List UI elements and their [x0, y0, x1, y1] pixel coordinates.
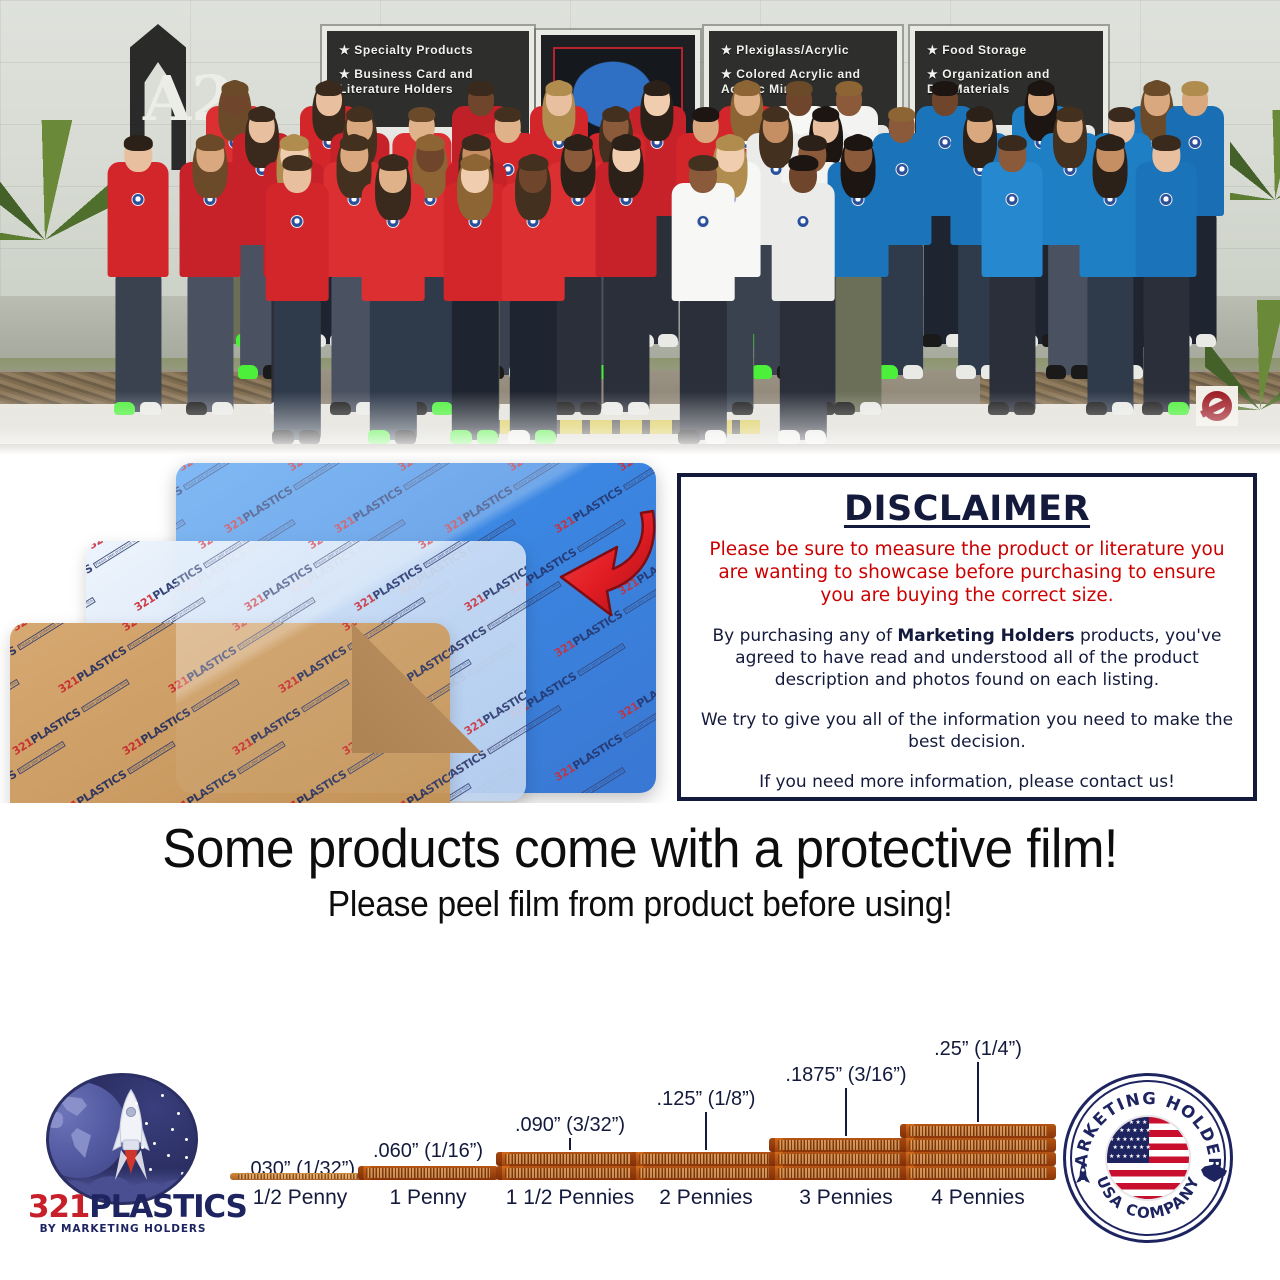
penny-measure-label: .1875” (3/16”)	[785, 1064, 906, 1087]
penny-column: .060” (1/16”)1 Penny	[358, 1010, 498, 1210]
hair-top	[966, 107, 994, 122]
shoe	[1168, 402, 1189, 416]
team-member	[266, 152, 329, 446]
flag-star-icon: ★	[1146, 1128, 1151, 1134]
penny-stack	[230, 1173, 370, 1180]
legs	[1088, 275, 1133, 412]
continent-shape	[71, 1128, 91, 1158]
flag-canton: ★★★★★★★★★★★★★★★★★★★★★★★★★★★★★★	[1107, 1117, 1149, 1163]
torso-shirt	[982, 162, 1043, 278]
shoe	[732, 402, 753, 416]
disclaimer-box: DISCLAIMER Please be sure to measure the…	[677, 473, 1257, 801]
penny-stack	[900, 1124, 1056, 1180]
shoe	[212, 402, 233, 416]
shoe	[705, 430, 727, 444]
torso-shirt	[108, 162, 169, 278]
hair-top	[248, 107, 276, 122]
team-member	[672, 152, 735, 446]
flag-star-icon: ★	[1109, 1120, 1114, 1126]
shoe	[860, 402, 881, 416]
shoe	[956, 365, 976, 378]
star-icon	[167, 1154, 170, 1157]
hair-top	[785, 81, 812, 96]
shoe	[678, 430, 700, 444]
hair-top	[1108, 107, 1136, 122]
hair-top	[762, 107, 790, 122]
star-icon	[141, 1146, 144, 1149]
hair-top	[462, 135, 490, 150]
legs	[990, 275, 1035, 412]
coin	[496, 1166, 644, 1180]
legs	[274, 299, 320, 439]
flag-star-icon: ★	[1146, 1145, 1151, 1151]
penny-stack	[630, 1152, 782, 1180]
floor-sign	[1196, 386, 1238, 426]
shoe	[140, 402, 161, 416]
protective-film-product-photo: 321PLASTICSPlease peel protective film32…	[0, 455, 672, 803]
penny-stack	[496, 1152, 644, 1180]
penny-caption: 1/2 Penny	[253, 1186, 348, 1210]
team-photo: A2 ★ Specialty Products ★ Business Card …	[0, 0, 1280, 455]
penny-leader-line	[977, 1062, 979, 1122]
penny-caption: 3 Pennies	[799, 1186, 892, 1210]
penny-measure-label: .125” (1/8”)	[657, 1088, 756, 1111]
penny-caption: 1 Penny	[389, 1186, 466, 1210]
shirt-logo-icon	[895, 163, 908, 176]
flag-star-icon: ★	[1122, 1154, 1127, 1160]
star-icon	[185, 1138, 188, 1141]
shoe	[186, 402, 207, 416]
star-icon	[153, 1142, 156, 1145]
shoe	[330, 402, 351, 416]
star-icon	[189, 1096, 192, 1099]
brand-name-marketing-holders: Marketing Holders	[897, 626, 1074, 646]
palm-frond-right-top	[1230, 110, 1280, 200]
team-member	[828, 132, 889, 418]
team-member	[444, 152, 507, 446]
shirt-logo-icon	[132, 193, 145, 206]
hair-top	[998, 135, 1026, 150]
flag-star-icon: ★	[1132, 1145, 1137, 1151]
shoe	[1112, 402, 1133, 416]
headline-secondary: Please peel film from product before usi…	[45, 882, 1235, 926]
flag-star-icon: ★	[1116, 1154, 1121, 1160]
legs	[188, 275, 233, 412]
penny-stack	[358, 1166, 498, 1180]
hair-top	[346, 107, 374, 122]
flag-star-icon: ★	[1135, 1120, 1140, 1126]
continent-shape	[47, 1112, 63, 1128]
shirt-logo-icon	[697, 215, 710, 228]
hair-top	[283, 155, 312, 171]
flag-star-icon: ★	[1113, 1128, 1118, 1134]
star-icon	[135, 1102, 138, 1105]
headline-section: Some products come with a protective fil…	[0, 818, 1280, 926]
flag-star-icon: ★	[1113, 1145, 1118, 1151]
hair-top	[692, 107, 720, 122]
shoe	[778, 430, 800, 444]
shoe	[535, 430, 557, 444]
hair-top	[844, 135, 872, 150]
team-member	[502, 152, 565, 446]
legs	[780, 299, 826, 439]
penny-column: .030” (1/32”)1/2 Penny	[230, 1010, 370, 1210]
star-icon	[185, 1156, 188, 1159]
torso-shirt	[772, 183, 835, 302]
hair-top	[564, 135, 592, 150]
window-sign-line: ★ Specialty Products	[339, 43, 519, 58]
hair-top	[789, 155, 818, 171]
penny-measure-label: .25” (1/4”)	[934, 1038, 1022, 1061]
shoe	[602, 402, 623, 416]
torso-shirt	[672, 183, 735, 302]
hair-top	[602, 107, 630, 122]
headline-primary: Some products come with a protective fil…	[45, 818, 1235, 878]
hair-top	[1096, 135, 1124, 150]
logo-321-tagline: BY MARKETING HOLDERS	[28, 1223, 218, 1235]
coin	[496, 1152, 644, 1166]
hair-top	[1181, 81, 1208, 96]
hair-top	[494, 107, 522, 122]
shoe	[1014, 402, 1035, 416]
logo-wordmark-prefix: 321	[28, 1189, 89, 1225]
penny-caption: 2 Pennies	[659, 1186, 752, 1210]
coin	[230, 1173, 370, 1180]
flag-star-icon: ★	[1126, 1145, 1131, 1151]
penny-leader-line	[569, 1138, 571, 1150]
hair-top	[716, 135, 744, 150]
hair-top	[280, 135, 308, 150]
flag-star-icon: ★	[1129, 1154, 1134, 1160]
shoe	[395, 430, 417, 444]
shoe	[1196, 334, 1216, 347]
flag-star-icon: ★	[1122, 1137, 1127, 1143]
legs	[510, 299, 556, 439]
hair-top	[196, 135, 224, 150]
flag-star-icon: ★	[1126, 1128, 1131, 1134]
legs	[370, 299, 416, 439]
flag-star-icon: ★	[1142, 1120, 1147, 1126]
shoe	[508, 430, 530, 444]
shoe	[299, 430, 321, 444]
legs	[680, 299, 726, 439]
torso-shirt	[266, 183, 329, 302]
team-member	[982, 132, 1043, 418]
shoe	[988, 402, 1009, 416]
team-member	[180, 132, 241, 418]
torso-shirt	[1136, 162, 1197, 278]
shoe	[1086, 402, 1107, 416]
hair-top	[931, 81, 958, 96]
flag-star-icon: ★	[1142, 1137, 1147, 1143]
hair-top	[1152, 135, 1180, 150]
flag-star-icon: ★	[1139, 1145, 1144, 1151]
hair-top	[221, 81, 248, 96]
palm-frond-left	[0, 120, 110, 240]
shoe	[834, 402, 855, 416]
logo-wordmark-suffix: PLASTICS	[89, 1189, 247, 1225]
flag-star-icon: ★	[1135, 1137, 1140, 1143]
shoe	[1046, 365, 1066, 378]
shirt-logo-icon	[1160, 193, 1173, 206]
flag-star-icon: ★	[1119, 1128, 1124, 1134]
flag-star-icon: ★	[1129, 1137, 1134, 1143]
penny-measure-label: .060” (1/16”)	[373, 1140, 483, 1163]
coin	[900, 1138, 1056, 1152]
penny-measure-label: .090” (3/32”)	[515, 1114, 625, 1137]
shirt-logo-icon	[1006, 193, 1019, 206]
flag-star-icon: ★	[1135, 1154, 1140, 1160]
team-member	[596, 132, 657, 418]
hair-top	[689, 155, 718, 171]
star-icon	[181, 1172, 184, 1175]
team-member	[362, 152, 425, 446]
shirt-logo-icon	[797, 215, 810, 228]
star-icon	[149, 1168, 152, 1171]
shoe	[450, 430, 472, 444]
flag-star-icon: ★	[1129, 1120, 1134, 1126]
hair-top	[461, 155, 490, 171]
disclaimer-paragraph-information: We try to give you all of the informatio…	[699, 709, 1235, 753]
hair-top	[545, 81, 572, 96]
disclaimer-paragraph-contact: If you need more information, please con…	[699, 771, 1235, 793]
agreement-text-before: By purchasing any of	[713, 626, 898, 646]
flag-star-icon: ★	[1109, 1154, 1114, 1160]
team-member	[108, 132, 169, 418]
flag-star-icon: ★	[1109, 1137, 1114, 1143]
hair-top	[643, 81, 670, 96]
hair-top	[467, 81, 494, 96]
logo-321-wordmark: 321PLASTICS	[28, 1191, 218, 1223]
legs	[1144, 275, 1189, 412]
window-sign-line: ★ Plexiglass/Acrylic	[721, 43, 887, 58]
legs	[604, 275, 649, 412]
hair-top	[124, 135, 152, 150]
usa-flag-icon: ★★★★★★★★★★★★★★★★★★★★★★★★★★★★★★	[1105, 1115, 1191, 1201]
flag-star-icon: ★	[1139, 1128, 1144, 1134]
star-icon	[161, 1094, 164, 1097]
coin	[630, 1166, 782, 1180]
flag-star-icon: ★	[1132, 1128, 1137, 1134]
hair-top	[812, 107, 840, 122]
hair-top	[612, 135, 640, 150]
team-member	[1136, 132, 1197, 418]
hair-top	[379, 155, 408, 171]
logo-space-scene	[46, 1073, 198, 1205]
shoe	[368, 430, 390, 444]
coin	[900, 1166, 1056, 1180]
shoe	[114, 402, 135, 416]
logo-marketing-holders-seal: MARKETING HOLDERS USA COMPANY ★★★★★★★★★★…	[1063, 1073, 1233, 1243]
hair-top	[1027, 81, 1054, 96]
shoe	[477, 430, 499, 444]
flag-star-icon: ★	[1119, 1145, 1124, 1151]
peel-arrow-icon	[555, 503, 665, 623]
penny-caption: 4 Pennies	[931, 1186, 1024, 1210]
hair-top	[416, 135, 444, 150]
shoe	[805, 430, 827, 444]
hair-top	[519, 155, 548, 171]
shirt-logo-icon	[291, 215, 304, 228]
disclaimer-title: DISCLAIMER	[699, 489, 1235, 529]
hair-top	[1056, 107, 1084, 122]
penny-column: .090” (3/32”)1 1/2 Pennies	[496, 1010, 644, 1210]
disclaimer-paragraph-agreement: By purchasing any of Marketing Holders p…	[699, 625, 1235, 691]
penny-leader-line	[705, 1112, 707, 1150]
coin	[630, 1152, 782, 1166]
team-member	[1080, 132, 1141, 418]
legs	[452, 299, 498, 439]
penny-caption: 1 1/2 Pennies	[506, 1186, 634, 1210]
penny-column: .125” (1/8”)2 Pennies	[630, 1010, 782, 1210]
continent-shape	[61, 1096, 87, 1116]
disclaimer-red-warning: Please be sure to measure the product or…	[699, 538, 1235, 607]
shoe	[272, 430, 294, 444]
coin	[358, 1166, 498, 1180]
shoe	[238, 365, 258, 378]
shoe	[1142, 402, 1163, 416]
team-member	[772, 152, 835, 446]
window-sign-line: ★ Food Storage	[927, 43, 1093, 58]
hair-top	[888, 107, 916, 122]
rocket-mini-icon	[1075, 1161, 1091, 1187]
star-icon	[171, 1128, 174, 1131]
hair-top	[798, 135, 826, 150]
star-icon	[177, 1112, 180, 1115]
hair-top	[315, 81, 342, 96]
star-icon	[145, 1122, 148, 1125]
penny-column: .25” (1/4”)4 Pennies	[900, 1010, 1056, 1210]
rocket-icon	[111, 1088, 151, 1184]
flag-star-icon: ★	[1116, 1120, 1121, 1126]
flag-star-icon: ★	[1116, 1137, 1121, 1143]
hair-top	[733, 81, 760, 96]
legs	[836, 275, 881, 412]
shoe	[628, 402, 649, 416]
shoe	[903, 365, 923, 378]
legs	[116, 275, 161, 412]
hair-top	[340, 135, 368, 150]
coin	[900, 1152, 1056, 1166]
coin	[900, 1124, 1056, 1138]
hair-top	[408, 107, 436, 122]
flag-star-icon: ★	[1122, 1120, 1127, 1126]
penny-leader-line	[845, 1088, 847, 1136]
logo-321-plastics: 321PLASTICS BY MARKETING HOLDERS	[28, 1073, 218, 1243]
hair-top	[835, 81, 862, 96]
flag-star-icon: ★	[1142, 1154, 1147, 1160]
